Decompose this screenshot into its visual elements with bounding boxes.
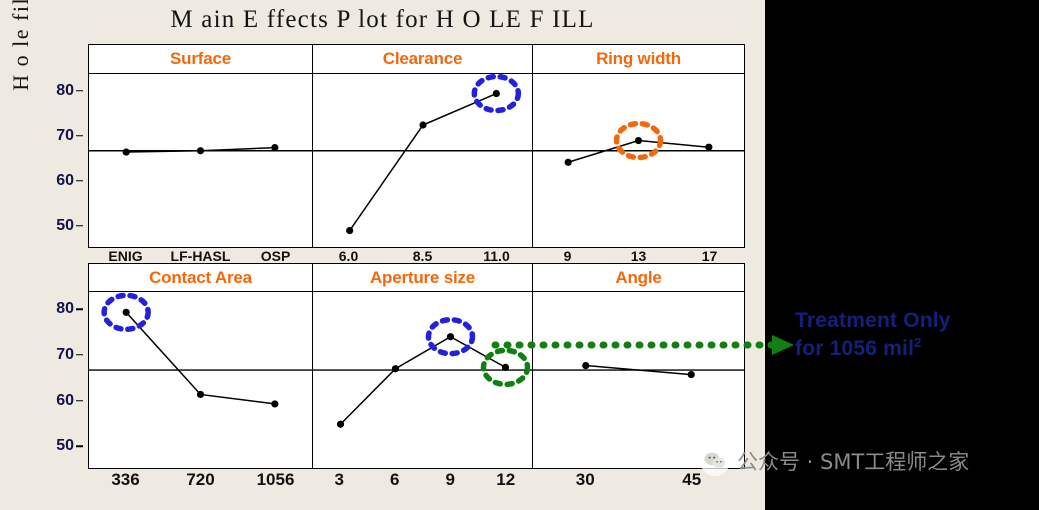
y-axis-ticks: 8080707060605050 bbox=[0, 44, 86, 469]
annotation-superscript: 2 bbox=[914, 335, 921, 350]
series-line bbox=[340, 337, 505, 425]
x-tick-label: 11.0 bbox=[483, 248, 509, 264]
data-point bbox=[391, 365, 398, 372]
y-tick-mark bbox=[76, 445, 83, 447]
treatment-annotation: Treatment Only for 1056 mil2 bbox=[795, 308, 1030, 363]
x-tick-label: 1056 bbox=[257, 470, 295, 490]
chart-title: M ain E ffects P lot for H O LE F ILL bbox=[0, 6, 765, 34]
annotation-line-1: Treatment Only bbox=[795, 308, 1030, 335]
data-point bbox=[197, 147, 204, 154]
data-point bbox=[271, 144, 278, 151]
y-tick-mark bbox=[76, 135, 83, 137]
panel-contact-area: Contact Area bbox=[88, 263, 313, 469]
x-tick-label: ENIG bbox=[108, 248, 142, 264]
y-tick-label: 50 bbox=[56, 217, 74, 235]
x-tick-label: 9 bbox=[564, 248, 572, 264]
data-point bbox=[346, 227, 353, 234]
panel-ring-width: Ring width bbox=[532, 44, 745, 248]
data-point bbox=[336, 421, 343, 428]
data-point bbox=[123, 309, 130, 316]
watermark: 公众号 · SMT工程师之家 bbox=[700, 446, 969, 476]
panel-header-clearance: Clearance bbox=[313, 45, 533, 74]
annotation-line-2-text: for 1056 mil bbox=[795, 337, 914, 360]
x-tick-label: LF-HASL bbox=[171, 248, 231, 264]
series-line bbox=[349, 94, 496, 231]
watermark-text: 公众号 · SMT工程师之家 bbox=[737, 446, 969, 476]
data-point bbox=[197, 391, 204, 398]
panel-aperture-size: Aperture size bbox=[312, 263, 534, 469]
x-tick-label: 720 bbox=[186, 470, 214, 490]
y-tick-label: 70 bbox=[56, 127, 74, 145]
data-point bbox=[419, 121, 426, 128]
x-tick-label: 17 bbox=[702, 248, 718, 264]
panel-clearance: Clearance bbox=[312, 44, 534, 248]
wechat-logo-icon bbox=[700, 446, 730, 476]
series-line bbox=[126, 312, 275, 404]
data-point bbox=[492, 90, 499, 97]
x-tick-label: 45 bbox=[682, 470, 701, 490]
chart-canvas: M ain E ffects P lot for H O LE F ILL H … bbox=[0, 0, 765, 510]
data-point bbox=[271, 400, 278, 407]
y-tick-mark bbox=[76, 225, 83, 227]
y-tick-label: 50 bbox=[56, 437, 74, 455]
x-axis-ticks-top: ENIGLF-HASLOSP6.08.511.091317 bbox=[88, 248, 745, 270]
plot-row-top: Surface Clearance Ring width bbox=[88, 44, 745, 248]
panel-surface: Surface bbox=[88, 44, 313, 248]
data-point bbox=[501, 364, 508, 371]
slide-root: M ain E ffects P lot for H O LE F ILL H … bbox=[0, 0, 1039, 510]
panel-body-clearance bbox=[313, 74, 533, 247]
x-tick-label: 6 bbox=[390, 470, 399, 490]
panel-body-ring-width bbox=[533, 74, 744, 247]
x-tick-label: 336 bbox=[111, 470, 139, 490]
y-tick-mark bbox=[76, 354, 83, 356]
panel-body-aperture-size bbox=[313, 292, 533, 468]
plot-row-bottom: Contact Area Aperture size Angle bbox=[88, 263, 745, 469]
panel-body-angle bbox=[533, 292, 744, 468]
y-tick-label: 80 bbox=[56, 82, 74, 100]
data-point bbox=[565, 159, 572, 166]
panel-body-surface bbox=[89, 74, 312, 247]
x-tick-label: 8.5 bbox=[413, 248, 432, 264]
y-tick-mark bbox=[76, 90, 83, 92]
data-point bbox=[688, 371, 695, 378]
x-tick-label: 12 bbox=[496, 470, 515, 490]
data-point bbox=[123, 148, 130, 155]
data-point bbox=[635, 137, 642, 144]
data-point bbox=[582, 362, 589, 369]
y-tick-mark bbox=[76, 180, 83, 182]
x-axis-ticks-bottom: 3367201056369123045 bbox=[88, 470, 745, 492]
x-tick-label: 30 bbox=[576, 470, 595, 490]
panel-body-contact-area bbox=[89, 292, 312, 468]
data-point bbox=[705, 144, 712, 151]
y-tick-label: 60 bbox=[56, 172, 74, 190]
y-tick-label: 80 bbox=[56, 300, 74, 318]
y-tick-label: 70 bbox=[56, 346, 74, 364]
y-tick-mark bbox=[76, 309, 83, 311]
panel-header-ring-width: Ring width bbox=[533, 45, 744, 74]
data-point bbox=[446, 333, 453, 340]
x-tick-label: 3 bbox=[335, 470, 344, 490]
panel-angle: Angle bbox=[532, 263, 745, 469]
x-tick-label: 9 bbox=[446, 470, 455, 490]
x-tick-label: OSP bbox=[261, 248, 291, 264]
annotation-line-2: for 1056 mil2 bbox=[795, 335, 1030, 363]
y-tick-label: 60 bbox=[56, 392, 74, 410]
y-tick-mark bbox=[76, 400, 83, 402]
x-tick-label: 13 bbox=[631, 248, 647, 264]
x-tick-label: 6.0 bbox=[339, 248, 358, 264]
panel-header-surface: Surface bbox=[89, 45, 312, 74]
